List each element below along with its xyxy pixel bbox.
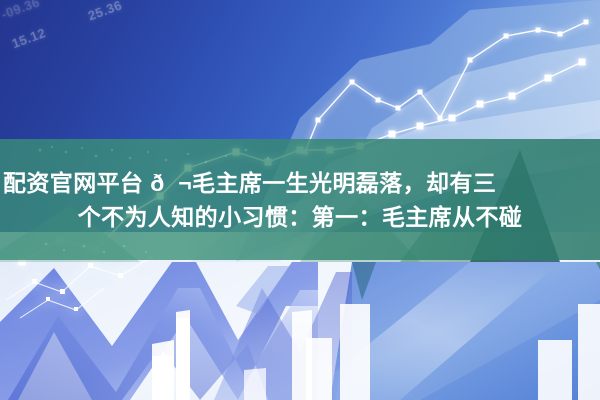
banner-image: -02.36-11.2645.0221.06-02.352.26-11.2645… [0,0,600,400]
headline-line-1: 配资官网平台 ð ¬毛主席一生光明磊落，却有三 [0,166,496,200]
headline-text: 配资官网平台 ð ¬毛主席一生光明磊落，却有三 个不为人知的小习惯：第一：毛主席… [0,139,600,260]
headline-line-2: 个不为人知的小习惯：第一：毛主席从不碰 [78,200,523,234]
